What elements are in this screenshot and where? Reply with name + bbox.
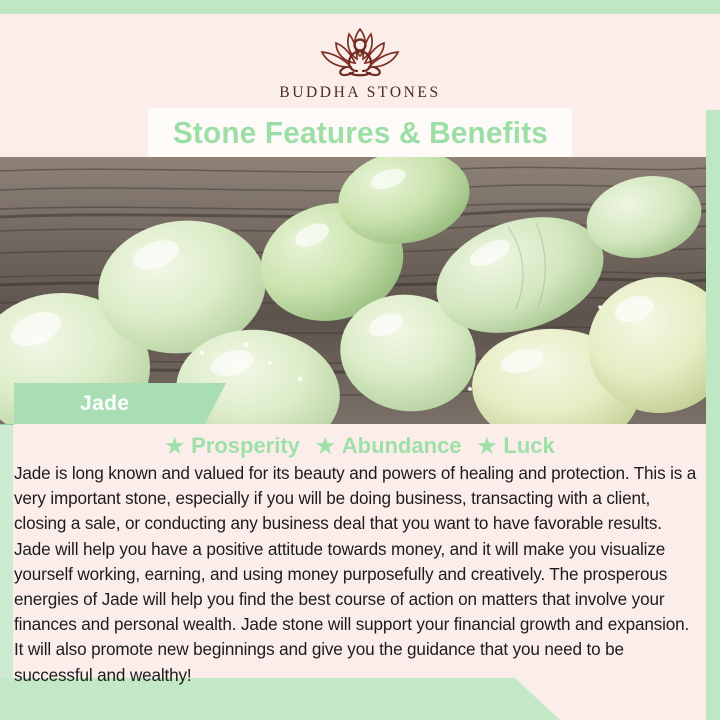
brand-name: BUDDHA STONES bbox=[279, 84, 440, 102]
benefit-item: ★ Abundance bbox=[316, 433, 462, 459]
photo-caption-label: Jade bbox=[80, 392, 129, 416]
brand-header: BUDDHA STONES bbox=[0, 14, 720, 110]
left-green-band-lower bbox=[0, 425, 13, 678]
page-title: Stone Features & Benefits bbox=[172, 115, 547, 151]
benefit-label: Abundance bbox=[342, 433, 462, 459]
lotus-meditation-icon bbox=[301, 23, 419, 83]
benefit-label: Prosperity bbox=[191, 433, 300, 459]
star-icon: ★ bbox=[316, 436, 335, 457]
benefit-item: ★ Prosperity bbox=[165, 433, 300, 459]
star-icon: ★ bbox=[478, 436, 497, 457]
benefit-item: ★ Luck bbox=[478, 433, 555, 459]
description-text: Jade is long known and valued for its be… bbox=[14, 461, 700, 688]
top-green-band bbox=[0, 0, 720, 14]
star-icon: ★ bbox=[165, 436, 184, 457]
photo-caption-tag: Jade bbox=[14, 383, 226, 424]
benefit-label: Luck bbox=[503, 433, 554, 459]
benefits-row: ★ Prosperity ★ Abundance ★ Luck bbox=[0, 431, 720, 461]
title-banner: Stone Features & Benefits bbox=[148, 108, 572, 157]
